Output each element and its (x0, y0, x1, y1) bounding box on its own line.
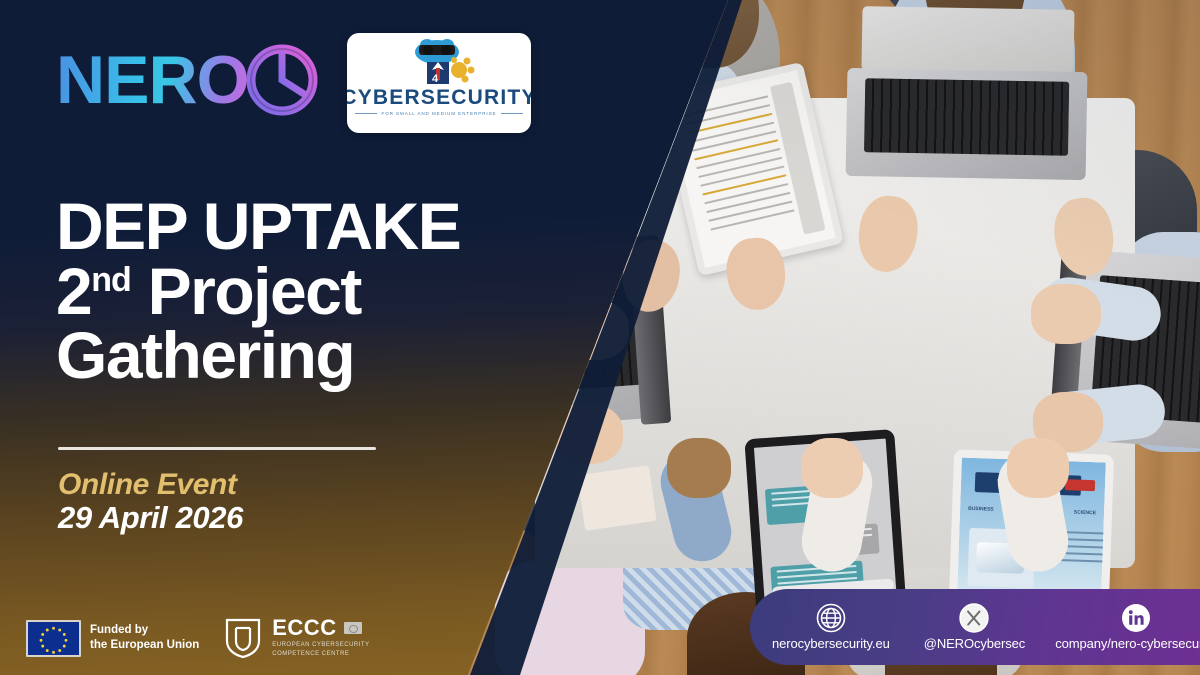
title-ordinal-suffix: nd (91, 261, 131, 299)
funding-row: Funded by the European Union ECCC EUROPE… (26, 617, 370, 659)
title-line-1: DEP UPTAKE (56, 194, 526, 259)
partner-tagline: FOR SMALL AND MEDIUM ENTERPRISE (355, 111, 522, 116)
eccc-subtitle: EUROPEAN CYBERSECURITY COMPETENCE CENTRE (272, 641, 369, 658)
eccc-wordmark: ECCC (272, 617, 336, 639)
title-line-2: 2nd Project (56, 259, 526, 324)
linkedin-label: company/nero-cybersecurity (1055, 636, 1200, 651)
svg-text:4: 4 (432, 73, 439, 85)
eu-funding-line-1: Funded by (90, 624, 148, 636)
nero-wordmark: NERO (56, 46, 248, 114)
title-line-3: Gathering (56, 323, 526, 388)
eccc-shield-icon (223, 617, 263, 659)
x-handle-label: @NEROcybersec (924, 636, 1025, 651)
eu-flag-icon (26, 620, 81, 657)
eccc-subtitle-line-1: EUROPEAN CYBERSECURITY (272, 642, 369, 648)
linkedin-icon (1121, 603, 1151, 633)
poster-canvas: WORLD NEWS BUSINESS POLITICS SCIENCE (0, 0, 1200, 675)
title-line-2-rest: Project (148, 254, 361, 328)
title-ordinal-number: 2 (56, 254, 91, 328)
page-title: DEP UPTAKE 2nd Project Gathering (56, 194, 526, 388)
eccc-mini-badge-icon (344, 622, 362, 634)
social-link-website[interactable]: nerocybersecurity.eu (772, 603, 890, 651)
title-divider (58, 447, 376, 450)
globe-icon (816, 603, 846, 633)
event-date: 29 April 2026 (58, 500, 243, 536)
eu-funding-badge: Funded by the European Union (26, 620, 199, 657)
nero-circle-mark-icon (246, 44, 318, 116)
eu-funding-line-2: the European Union (90, 639, 199, 651)
eccc-logo: ECCC EUROPEAN CYBERSECURITY COMPETENCE C… (223, 617, 369, 659)
event-type: Online Event (58, 468, 237, 502)
social-links-bar: nerocybersecurity.eu @NEROcybersec c (750, 589, 1200, 665)
eccc-subtitle-line-2: COMPETENCE CENTRE (272, 651, 349, 657)
chameleon-mascot-icon: 4 (397, 38, 481, 86)
cybersecurity-partner-logo[interactable]: 4 CYBERSECURITY FOR SMALL AND MEDIUM ENT… (347, 33, 531, 133)
website-label: nerocybersecurity.eu (772, 636, 890, 651)
eu-funding-text: Funded by the European Union (90, 623, 199, 653)
social-link-linkedin[interactable]: company/nero-cybersecurity (1055, 603, 1200, 651)
nero-logo[interactable]: NERO (56, 44, 318, 116)
social-link-x[interactable]: @NEROcybersec (924, 603, 1025, 651)
x-twitter-icon (959, 603, 989, 633)
partner-wordmark: CYBERSECURITY (347, 87, 531, 108)
